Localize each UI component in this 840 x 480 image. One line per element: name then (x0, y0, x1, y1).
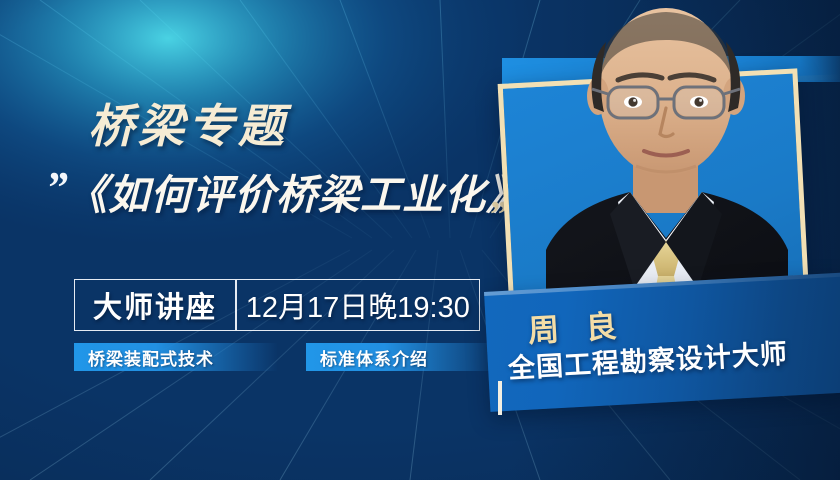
speaker-zone: 周 良 全国工程勘察设计大师 (480, 0, 840, 480)
webinar-poster: 桥梁专题 ” 《如何评价桥梁工业化》 ” 大师讲座 12月17日晚19:30 桥… (0, 0, 840, 480)
lecture-label: 大师讲座 (75, 280, 235, 330)
speaker-name-panel: 周 良 全国工程勘察设计大师 (484, 273, 840, 412)
lecture-datetime: 12月17日晚19:30 (237, 280, 479, 330)
white-tick-marker (498, 381, 502, 415)
topic-tag-list: 桥梁装配式技术 标准体系介绍 (74, 343, 502, 371)
page-title: 桥梁专题 (88, 103, 288, 149)
lecture-subtitle: 《如何评价桥梁工业化》 (66, 175, 528, 216)
lecture-info-box: 大师讲座 12月17日晚19:30 (74, 279, 480, 331)
quote-open-icon: ” (46, 166, 68, 210)
left-content: 桥梁专题 ” 《如何评价桥梁工业化》 ” 大师讲座 12月17日晚19:30 桥… (0, 0, 540, 480)
topic-tag: 标准体系介绍 (306, 343, 502, 371)
topic-tag: 桥梁装配式技术 (74, 343, 278, 371)
avatar (538, 0, 793, 318)
